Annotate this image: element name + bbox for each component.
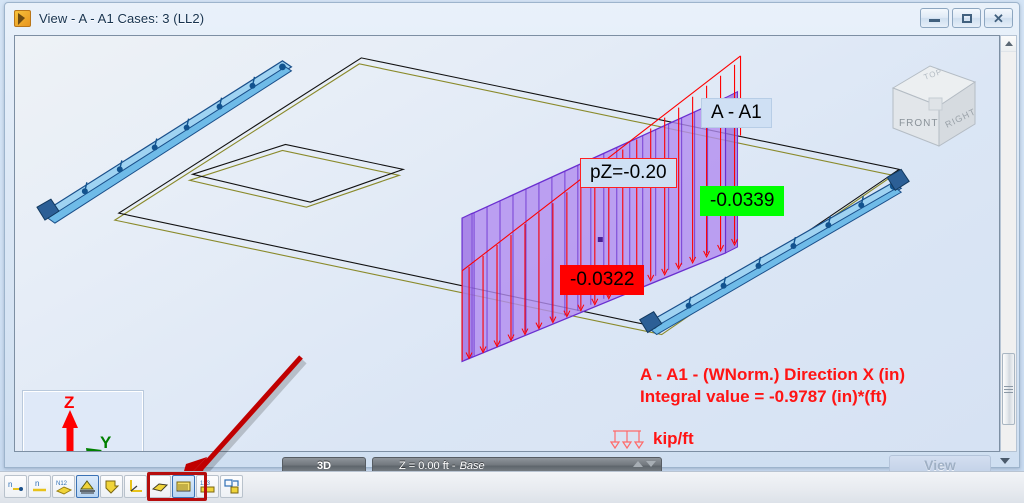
display-options-toolbar: n n N12 xyxy=(4,475,243,498)
title-bar[interactable]: View - A - A1 Cases: 3 (LL2) ✕ xyxy=(5,3,1019,34)
window-controls: ✕ xyxy=(920,8,1013,28)
load-units-label: kip/ft xyxy=(653,429,694,449)
view-cube-front-label: FRONT xyxy=(899,118,938,129)
close-icon: ✕ xyxy=(993,12,1004,25)
svg-text:123: 123 xyxy=(200,481,211,487)
maximize-button[interactable] xyxy=(952,8,981,28)
distributed-load-icon xyxy=(610,427,646,451)
panel-numbers-icon[interactable]: N12 xyxy=(52,475,75,498)
scroll-up-arrow-icon xyxy=(1005,41,1013,46)
minimize-button[interactable] xyxy=(920,8,949,28)
panel-section-icon[interactable] xyxy=(148,475,171,498)
result-description-line1: A - A1 - (WNorm.) Direction X (in) xyxy=(640,364,905,386)
scroll-grip-icon xyxy=(1004,384,1013,395)
crop-view-icon[interactable] xyxy=(220,475,243,498)
loads-icon[interactable] xyxy=(100,475,123,498)
min-value-badge: -0.0322 xyxy=(560,265,644,295)
value-description-icon[interactable]: 123 xyxy=(196,475,219,498)
view-window: View - A - A1 Cases: 3 (LL2) ✕ xyxy=(4,2,1020,468)
window-title: View - A - A1 Cases: 3 (LL2) xyxy=(39,11,204,26)
load-value-label: pZ=-0.20 xyxy=(580,158,677,188)
scroll-up-button[interactable] xyxy=(1001,36,1016,52)
vertical-scroll-thumb[interactable] xyxy=(1002,353,1015,425)
diagram-section-icon[interactable] xyxy=(172,475,195,498)
spin-down-icon[interactable] xyxy=(646,461,656,467)
vertical-scrollbar[interactable] xyxy=(1000,35,1017,452)
supports-icon[interactable] xyxy=(76,475,99,498)
svg-text:n: n xyxy=(8,480,12,489)
bar-numbers-icon[interactable]: n xyxy=(28,475,51,498)
section-name-label: A - A1 xyxy=(701,98,772,128)
spin-up-icon[interactable] xyxy=(633,461,643,467)
view-dropdown-caret-icon[interactable] xyxy=(1000,458,1010,464)
slab-opening xyxy=(190,144,404,207)
load-units-row: kip/ft xyxy=(610,427,694,451)
svg-text:N12: N12 xyxy=(56,481,68,487)
axis-z-label: Z xyxy=(64,393,74,412)
application-window: View - A - A1 Cases: 3 (LL2) ✕ xyxy=(0,0,1024,503)
result-description-line2: Integral value = -0.9787 (in)*(ft) xyxy=(640,386,887,408)
level-name: Base xyxy=(460,460,485,472)
max-value-badge: -0.0339 xyxy=(700,186,784,216)
result-diagram-purple xyxy=(462,92,737,362)
view-cube[interactable]: FRONT RIGHT TOP xyxy=(885,58,983,150)
robot-structural-icon xyxy=(14,10,31,27)
maximize-icon xyxy=(962,14,972,23)
model-viewport[interactable]: A - A1 pZ=-0.20 -0.0339 -0.0322 A - A1 -… xyxy=(14,35,1000,452)
beam-left xyxy=(37,61,291,223)
axis-y-label: Y xyxy=(100,433,112,452)
svg-text:n: n xyxy=(35,479,39,488)
minimize-icon xyxy=(929,19,940,22)
bottom-toolbar: n n N12 xyxy=(0,471,1024,503)
level-prefix: Z = 0.00 ft - xyxy=(399,460,456,472)
level-spinner[interactable] xyxy=(633,461,656,467)
axis-triad: Z Y X xyxy=(23,391,143,452)
close-button[interactable]: ✕ xyxy=(984,8,1013,28)
local-axes-icon[interactable] xyxy=(124,475,147,498)
node-numbers-icon[interactable]: n xyxy=(4,475,27,498)
